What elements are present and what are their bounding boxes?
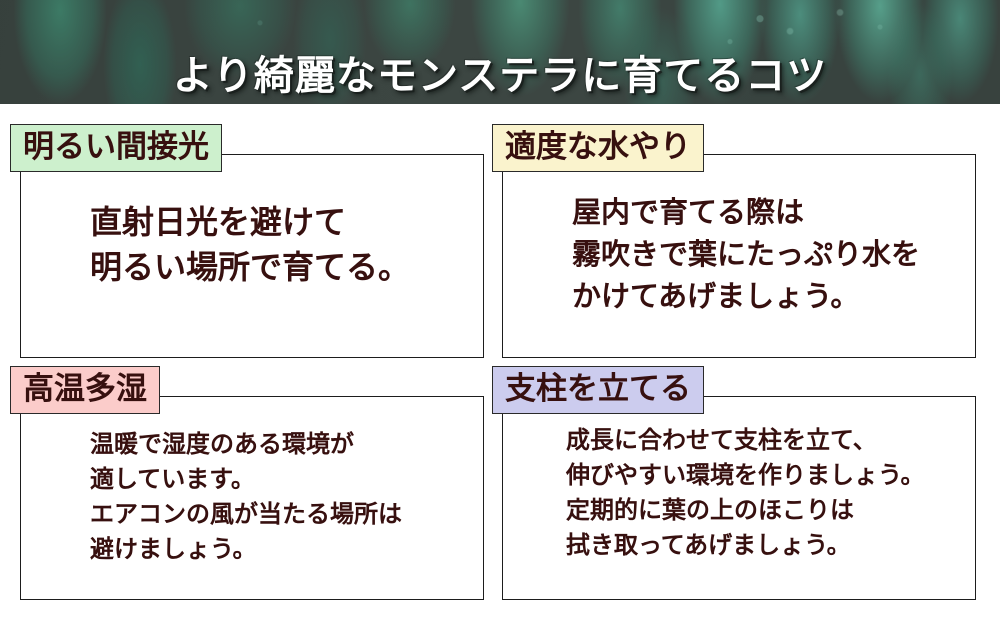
tip-card-label-install-support-stake: 支柱を立てる — [492, 366, 704, 414]
infographic-page: より綺麗なモンステラに育てるコツ 明るい間接光 直射日光を避けて 明るい場所で育… — [0, 0, 1000, 621]
tip-line: 避けましょう。 — [90, 533, 402, 568]
tip-line: 伸びやすい環境を作りましょう。 — [566, 459, 925, 494]
tip-card-body-bright-indirect-light: 直射日光を避けて 明るい場所で育てる。 — [90, 200, 410, 290]
tip-card-body-high-temp-humidity: 温暖で湿度のある環境が 適しています。 エアコンの風が当たる場所は 避けましょう… — [90, 428, 402, 568]
tip-line: 拭き取ってあげましょう。 — [566, 529, 925, 564]
page-title: より綺麗なモンステラに育てるコツ — [0, 51, 1000, 101]
tip-line: 直射日光を避けて — [90, 200, 410, 245]
tip-line: 屋内で育てる際は — [572, 192, 920, 234]
tip-line: 成長に合わせて支柱を立て、 — [566, 424, 925, 459]
tip-card-label-bright-indirect-light: 明るい間接光 — [10, 124, 222, 172]
tip-line: 明るい場所で育てる。 — [90, 245, 410, 290]
tip-line: 定期的に葉の上のほこりは — [566, 494, 925, 529]
tip-line: 適しています。 — [90, 463, 402, 498]
header-banner: より綺麗なモンステラに育てるコツ — [0, 0, 1000, 104]
tip-card-label-moderate-watering: 適度な水やり — [492, 124, 704, 172]
tip-card-body-install-support-stake: 成長に合わせて支柱を立て、 伸びやすい環境を作りましょう。 定期的に葉の上のほこ… — [566, 424, 925, 564]
tip-line: 温暖で湿度のある環境が — [90, 428, 402, 463]
tip-line: かけてあげましょう。 — [572, 276, 920, 318]
tip-line: 霧吹きで葉にたっぷり水を — [572, 234, 920, 276]
tip-card-label-high-temp-humidity: 高温多湿 — [10, 366, 160, 414]
tip-card-body-moderate-watering: 屋内で育てる際は 霧吹きで葉にたっぷり水を かけてあげましょう。 — [572, 192, 920, 318]
tips-card-grid: 明るい間接光 直射日光を避けて 明るい場所で育てる。 適度な水やり 屋内で育てる… — [0, 104, 1000, 621]
tip-line: エアコンの風が当たる場所は — [90, 498, 402, 533]
